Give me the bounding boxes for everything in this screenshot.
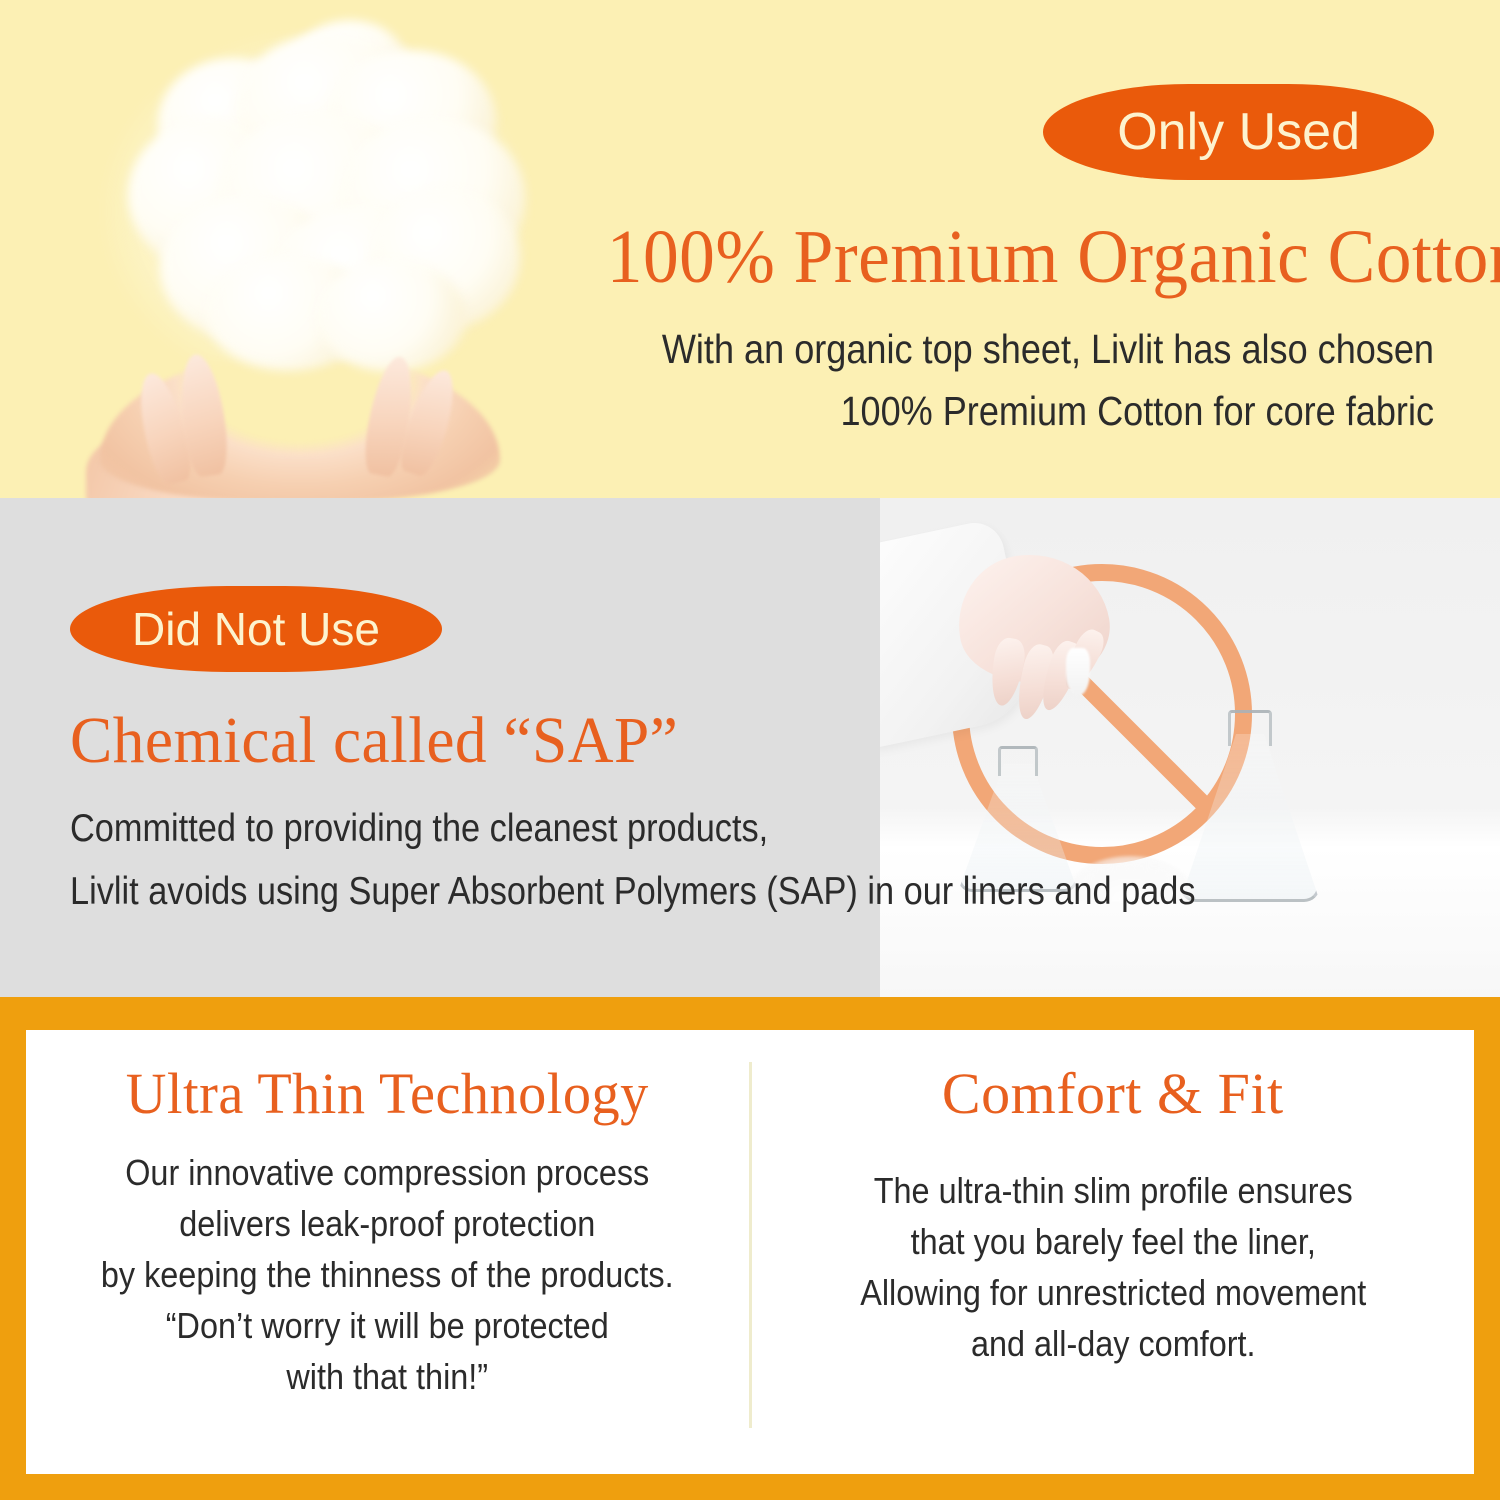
feature-heading-right: Comfort & Fit <box>778 1064 1449 1125</box>
feature-left-line: “Don’t worry it will be protected <box>86 1300 689 1351</box>
sap-body-line-2: Livlit avoids using Super Absorbent Poly… <box>70 864 1232 921</box>
feature-comfort-and-fit: Comfort & Fit The ultra-thin slim profil… <box>752 1030 1475 1474</box>
cotton-text-block: Only Used 100% Premium Organic Cotton Wi… <box>554 84 1434 440</box>
feature-right-line: Allowing for unrestricted movement <box>811 1267 1414 1318</box>
section-features: Ultra Thin Technology Our innovative com… <box>0 997 1500 1500</box>
badge-did-not-use: Did Not Use <box>70 586 442 672</box>
feature-left-line: with that thin!” <box>86 1351 689 1402</box>
feature-heading-left: Ultra Thin Technology <box>62 1064 712 1125</box>
badge-only-used: Only Used <box>1043 84 1434 180</box>
feature-ultra-thin-technology: Ultra Thin Technology Our innovative com… <box>26 1030 749 1474</box>
feature-left-line: delivers leak-proof protection <box>86 1198 689 1249</box>
feature-left-line: by keeping the thinness of the products. <box>86 1249 689 1300</box>
feature-right-line: The ultra-thin slim profile ensures <box>811 1165 1414 1216</box>
feature-right-line: that you barely feel the liner, <box>811 1216 1414 1267</box>
sap-text-block: Did Not Use Chemical called “SAP” Commit… <box>70 586 1390 920</box>
cotton-heading: 100% Premium Organic Cotton <box>607 218 1434 298</box>
cotton-body-line-2: 100% Premium Cotton for core fabric <box>660 382 1434 440</box>
section-no-sap: Did Not Use Chemical called “SAP” Commit… <box>0 498 1500 997</box>
cotton-cloud-image <box>40 0 580 498</box>
section-organic-cotton: Only Used 100% Premium Organic Cotton Wi… <box>0 0 1500 498</box>
feature-body-right: The ultra-thin slim profile ensures that… <box>811 1165 1414 1369</box>
feature-body-left: Our innovative compression process deliv… <box>86 1147 689 1403</box>
cotton-body-line-1: With an organic top sheet, Livlit has al… <box>660 320 1434 378</box>
product-infographic: Only Used 100% Premium Organic Cotton Wi… <box>0 0 1500 1500</box>
feature-left-line: Our innovative compression process <box>86 1147 689 1198</box>
feature-right-line: and all-day comfort. <box>811 1318 1414 1369</box>
sap-heading: Chemical called “SAP” <box>70 706 1337 775</box>
features-panel: Ultra Thin Technology Our innovative com… <box>26 1030 1474 1474</box>
sap-body-line-1: Committed to providing the cleanest prod… <box>70 801 1232 858</box>
